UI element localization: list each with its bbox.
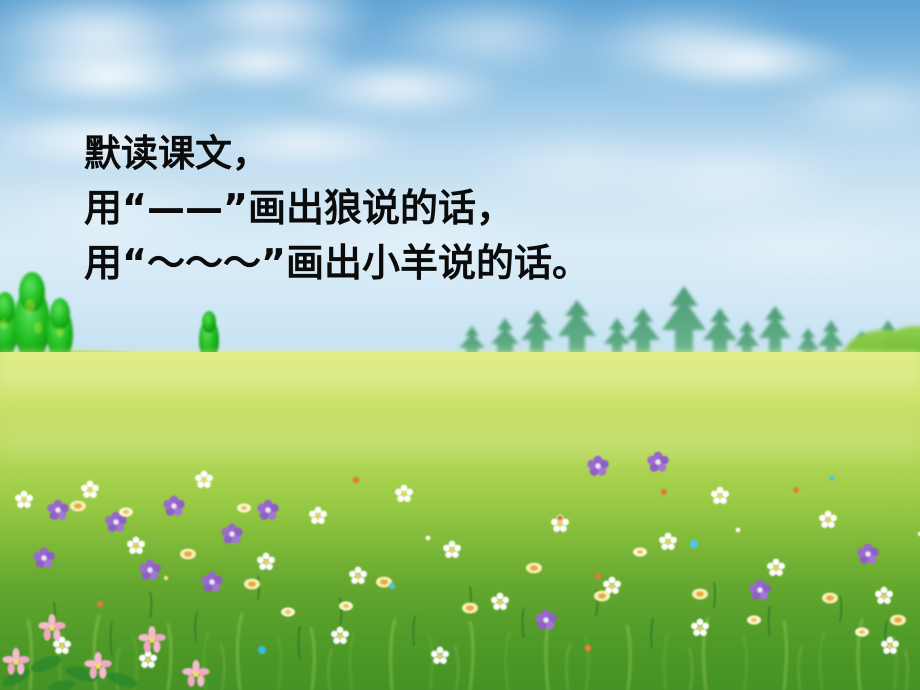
text-line-1: 默读课文， [84, 126, 884, 181]
flower-meadow [0, 450, 920, 690]
text-line-2: 用“——”画出狼说的话， [84, 181, 884, 236]
slide-canvas: 默读课文， 用“——”画出狼说的话， 用“～～～”画出小羊说的话。 [0, 0, 920, 690]
slide-text-block: 默读课文， 用“——”画出狼说的话， 用“～～～”画出小羊说的话。 [84, 126, 884, 291]
text-line-3: 用“～～～”画出小羊说的话。 [84, 236, 884, 291]
meadow-field [0, 352, 920, 690]
